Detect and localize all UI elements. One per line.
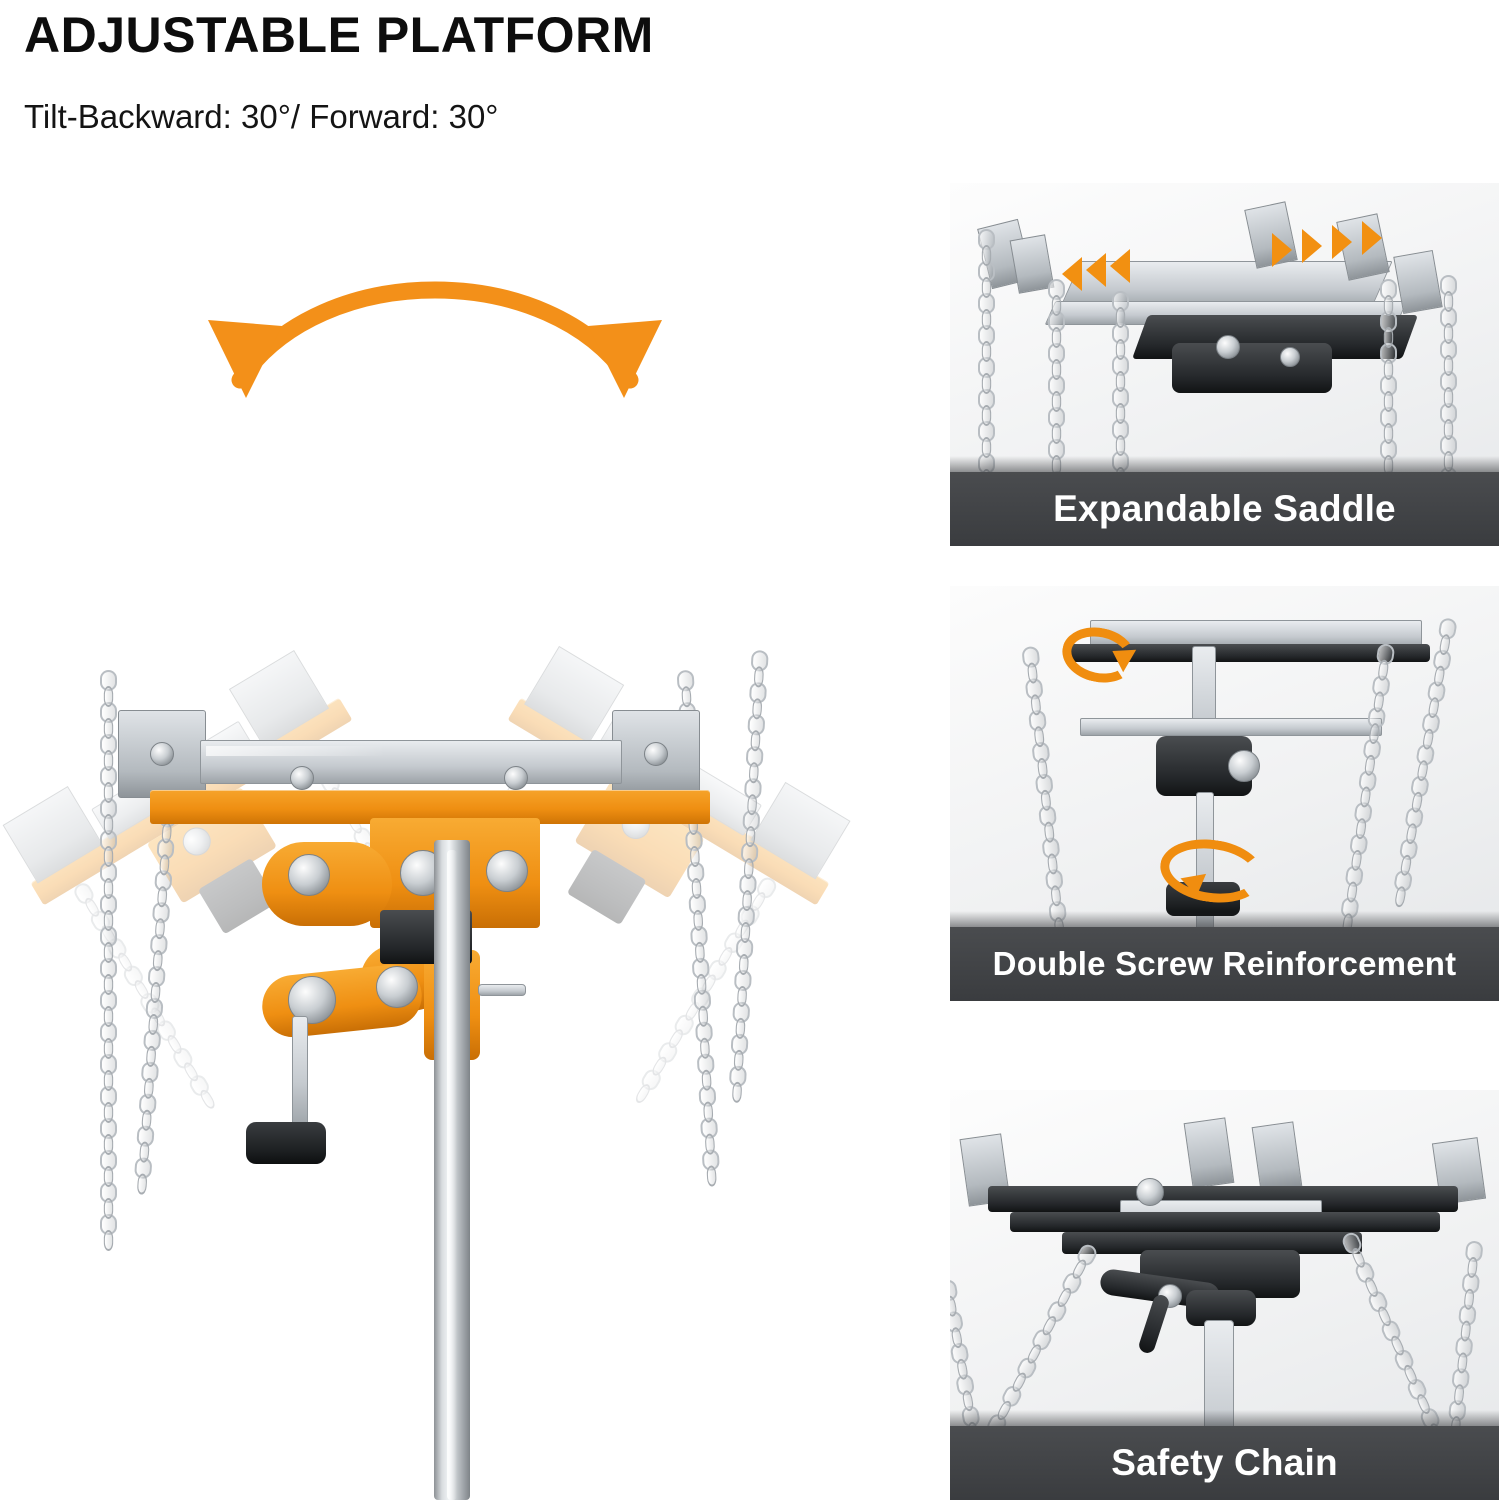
feature-card-expandable-saddle: Expandable Saddle bbox=[950, 183, 1499, 546]
feature-card-caption: Safety Chain bbox=[950, 1426, 1499, 1500]
page-subtitle: Tilt-Backward: 30°/ Forward: 30° bbox=[24, 98, 499, 136]
page-title: ADJUSTABLE PLATFORM bbox=[24, 6, 654, 64]
hero-illustration bbox=[0, 150, 940, 1500]
post-highlight bbox=[447, 850, 457, 1500]
feature-card-caption: Double Screw Reinforcement bbox=[950, 927, 1499, 1001]
product-feature-image: ADJUSTABLE PLATFORM Tilt-Backward: 30°/ … bbox=[0, 0, 1499, 1500]
feature-card-double-screw: Double Screw Reinforcement bbox=[950, 586, 1499, 1001]
feature-card-caption: Expandable Saddle bbox=[950, 472, 1499, 546]
feature-card-safety-chain: Safety Chain bbox=[950, 1090, 1499, 1500]
chain-icon bbox=[100, 670, 113, 1246]
chain-icon bbox=[1112, 291, 1125, 483]
adjust-knob-icon bbox=[246, 1122, 326, 1164]
arc-arrow-icon bbox=[170, 240, 700, 410]
